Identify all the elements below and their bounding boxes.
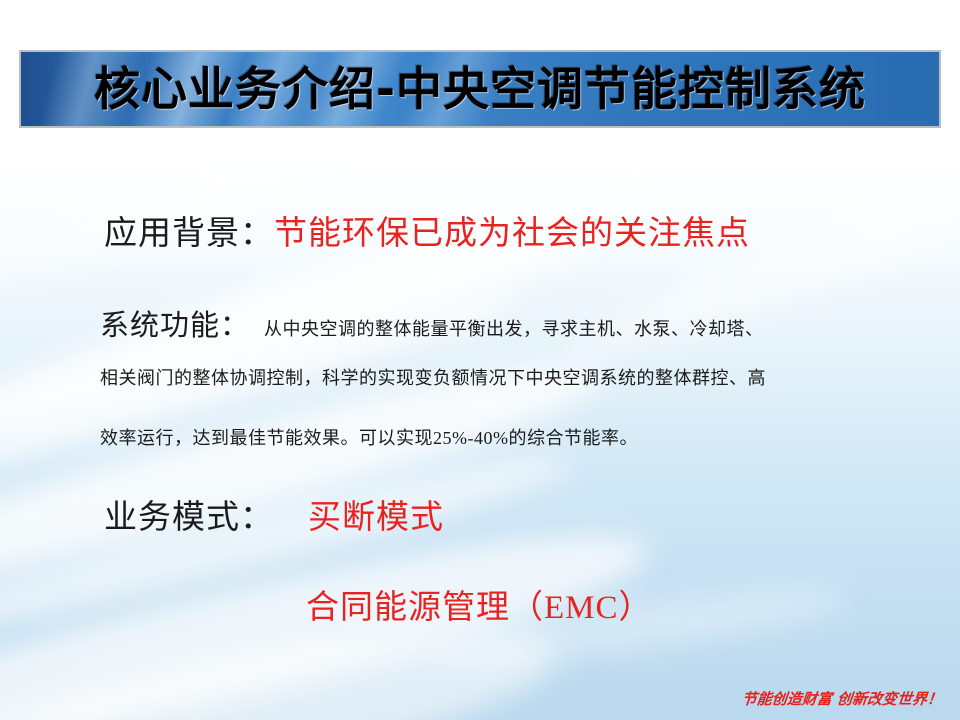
business-model-option-1: 买断模式 (308, 500, 444, 536)
footer-slogan: 节能创造财富 创新改变世界！ (741, 688, 943, 709)
system-function-line-3-row: 效率运行，达到最佳节能效果。可以实现25%-40%的综合节能率。 (100, 424, 638, 450)
business-model-option-2-row: 合同能源管理（EMC） (306, 580, 653, 628)
business-model-option-2: 合同能源管理（EMC） (306, 590, 653, 626)
system-function-line-3: 效率运行，达到最佳节能效果。可以实现25%-40%的综合节能率。 (100, 428, 638, 448)
section-application-background: 应用背景：节能环保已成为社会的关注焦点 (104, 206, 750, 254)
application-background-label: 应用背景： (104, 216, 274, 252)
system-function-label: 系统功能： (100, 310, 250, 342)
business-model-label: 业务模式： (104, 500, 274, 536)
system-function-line-2-row: 相关阀门的整体协调控制，科学的实现变负额情况下中央空调系统的整体群控、高 (100, 364, 766, 390)
application-background-value: 节能环保已成为社会的关注焦点 (274, 216, 750, 252)
system-function-line-2: 相关阀门的整体协调控制，科学的实现变负额情况下中央空调系统的整体群控、高 (100, 368, 766, 388)
section-system-function: 系统功能：从中央空调的整体能量平衡出发，寻求主机、水泵、冷却塔、 (100, 302, 764, 344)
slide-root: 核心业务介绍-中央空调节能控制系统 应用背景：节能环保已成为社会的关注焦点 系统… (0, 0, 960, 720)
section-business-model: 业务模式：买断模式 (104, 490, 444, 538)
content-area: 应用背景：节能环保已成为社会的关注焦点 系统功能：从中央空调的整体能量平衡出发，… (0, 0, 960, 720)
system-function-line-1: 从中央空调的整体能量平衡出发，寻求主机、水泵、冷却塔、 (264, 319, 764, 339)
